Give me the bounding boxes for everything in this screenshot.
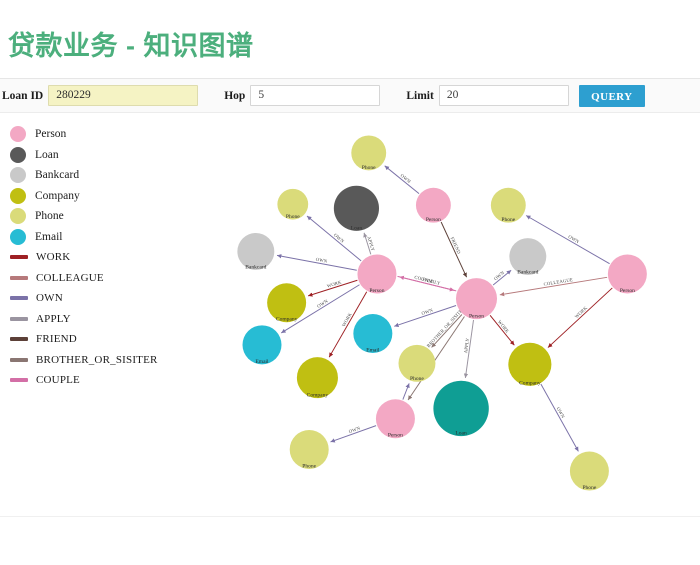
graph-node-label: Email	[366, 347, 380, 353]
limit-input[interactable]	[439, 85, 569, 106]
legend-item-label: FRIEND	[36, 333, 77, 345]
hop-input[interactable]	[250, 85, 380, 106]
graph-node-label: Bankcard	[245, 264, 266, 270]
legend-item-friend[interactable]: FRIEND	[10, 329, 185, 350]
legend-edge-swatch-icon	[10, 358, 28, 362]
graph-node-loan[interactable]: Loan	[334, 186, 379, 232]
graph-node-bankcard[interactable]: Bankcard	[509, 238, 546, 275]
legend-item-label: WORK	[36, 251, 70, 263]
graph-edge-label: WORK	[496, 320, 510, 335]
legend-item-label: OWN	[36, 292, 63, 304]
graph-node-phone[interactable]: Phone	[491, 188, 526, 223]
legend-item-label: Phone	[35, 210, 64, 222]
legend-item-label: Bankcard	[35, 169, 79, 181]
legend-item-label: Person	[35, 128, 66, 140]
graph-node-person[interactable]: Person	[608, 255, 647, 294]
graph-edge-label: OWN	[315, 258, 328, 265]
graph-node-label: Person	[620, 288, 635, 294]
graph-edge[interactable]	[403, 383, 409, 399]
loan-id-label: Loan ID	[0, 90, 48, 102]
graph-node-label: Person	[369, 288, 384, 294]
graph-node-label: Bankcard	[517, 269, 538, 275]
graph-node-company[interactable]: Company	[297, 357, 338, 399]
limit-label: Limit	[404, 90, 438, 102]
legend-edge-swatch-icon	[10, 255, 28, 259]
legend-edge-swatch-icon	[10, 337, 28, 341]
legend-edge-swatch-icon	[10, 276, 28, 280]
graph-edge-label: WORK	[575, 306, 590, 320]
legend-item-label: Company	[35, 190, 80, 202]
graph-node-email[interactable]: Email	[243, 325, 282, 364]
legend-edge-swatch-icon	[10, 317, 28, 321]
legend-node-swatch-icon	[10, 229, 26, 245]
graph-node-label: Person	[426, 217, 441, 223]
graph-node-label: Company	[276, 317, 298, 323]
graph-node-label: Company	[519, 380, 541, 386]
graph-edge-label: APPLY	[365, 236, 374, 252]
graph-edge-label: COLLEAGUE	[543, 278, 573, 288]
graph-edge-label: OWN	[567, 235, 580, 245]
page-title: 贷款业务 - 知识图谱	[8, 24, 254, 63]
legend-item-loan[interactable]: Loan	[10, 145, 185, 166]
graph-node-phone[interactable]: Phone	[399, 345, 436, 382]
graph-node-label: Person	[388, 433, 403, 439]
legend-item-work[interactable]: WORK	[10, 247, 185, 268]
graph-node-label: Phone	[302, 463, 316, 469]
legend-node-swatch-icon	[10, 167, 26, 183]
query-button[interactable]: QUERY	[579, 85, 645, 107]
graph-node-person[interactable]: Person	[376, 399, 415, 438]
graph-edge-label: APPLY	[464, 337, 471, 353]
graph-node-label: Email	[255, 359, 269, 365]
legend-item-couple[interactable]: COUPLE	[10, 370, 185, 391]
graph-node-company[interactable]: Company	[267, 283, 306, 322]
graph-edge-label: FAMILY	[422, 278, 441, 287]
graph-node-circle[interactable]	[334, 186, 379, 231]
legend-node-swatch-icon	[10, 188, 26, 204]
graph-node-phone[interactable]: Phone	[277, 189, 308, 220]
legend-item-label: COLLEAGUE	[36, 272, 104, 284]
graph-node-label: Phone	[582, 485, 596, 491]
graph-edge-label: OWN	[317, 299, 330, 310]
legend-item-email[interactable]: Email	[10, 227, 185, 248]
graph-node-phone[interactable]: Phone	[290, 430, 329, 469]
legend-node-swatch-icon	[10, 147, 26, 163]
graph-node-label: Loan	[351, 225, 363, 231]
legend-item-own[interactable]: OWN	[10, 288, 185, 309]
legend-edge-swatch-icon	[10, 296, 28, 300]
legend-node-swatch-icon	[10, 126, 26, 142]
legend-item-person[interactable]: Person	[10, 124, 185, 145]
graph-node-label: Person	[469, 314, 484, 320]
graph-edge-label: WORK	[327, 280, 343, 289]
knowledge-graph-page: 贷款业务 - 知识图谱 Loan ID Hop Limit QUERY Pers…	[0, 0, 700, 565]
hop-label: Hop	[222, 90, 250, 102]
graph-node-label: Phone	[501, 217, 515, 223]
legend-item-label: Email	[35, 231, 62, 243]
loan-id-input[interactable]	[48, 85, 198, 106]
legend-item-colleague[interactable]: COLLEAGUE	[10, 268, 185, 289]
legend-item-brother_or_sisiter[interactable]: BROTHER_OR_SISITER	[10, 350, 185, 371]
graph-edge-label: OWN	[348, 426, 361, 435]
graph-node-person[interactable]: Person	[416, 188, 451, 223]
legend-item-label: BROTHER_OR_SISITER	[36, 354, 158, 366]
graph-node-phone[interactable]: Phone	[570, 452, 609, 491]
graph-node-label: Phone	[410, 376, 424, 382]
legend-item-label: COUPLE	[36, 374, 80, 386]
graph-node-loan[interactable]: Loan	[433, 381, 488, 437]
graph-edge-label: OWN	[555, 407, 565, 420]
legend-edge-swatch-icon	[10, 378, 28, 382]
legend-item-bankcard[interactable]: Bankcard	[10, 165, 185, 186]
knowledge-graph-canvas[interactable]: OWNOWNAPPLYOWNWORKOWNWORKCOUPLEFAMILYFRI…	[185, 118, 690, 508]
graph-node-person[interactable]: Person	[357, 255, 396, 294]
legend-item-apply[interactable]: APPLY	[10, 309, 185, 330]
graph-node-label: Phone	[362, 165, 376, 171]
legend-item-phone[interactable]: Phone	[10, 206, 185, 227]
query-toolbar: Loan ID Hop Limit QUERY	[0, 78, 700, 113]
graph-node-label: Company	[307, 393, 329, 399]
graph-node-label: Phone	[286, 214, 300, 220]
bottom-divider	[0, 516, 700, 517]
graph-legend: PersonLoanBankcardCompanyPhoneEmailWORKC…	[10, 124, 185, 391]
graph-node-label: Loan	[455, 431, 467, 437]
graph-node-bankcard[interactable]: Bankcard	[237, 233, 274, 270]
legend-node-swatch-icon	[10, 208, 26, 224]
graph-edge-label: OWN	[421, 308, 434, 317]
legend-item-label: APPLY	[36, 313, 71, 325]
graph-node-email[interactable]: Email	[353, 314, 392, 353]
graph-node-phone[interactable]: Phone	[351, 135, 386, 170]
graph-node-company[interactable]: Company	[508, 343, 551, 387]
legend-item-label: Loan	[35, 149, 59, 161]
legend-item-company[interactable]: Company	[10, 186, 185, 207]
graph-node-circle[interactable]	[433, 381, 488, 436]
